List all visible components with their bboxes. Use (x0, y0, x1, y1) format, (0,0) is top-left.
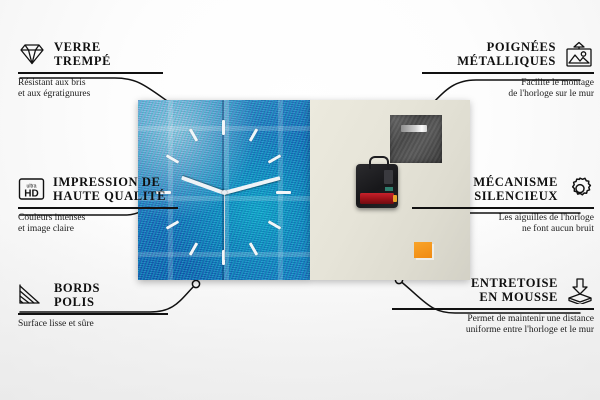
feature-desc: Résistant aux bris et aux égratignures (18, 78, 178, 101)
hour-marker (276, 191, 291, 194)
feature-rule (392, 308, 594, 310)
second-hand (224, 192, 225, 260)
feature-rule (422, 72, 594, 74)
feature-rule (18, 313, 168, 315)
hanger-slot (401, 125, 427, 132)
feature-mecanisme-silencieux: MÉCANISME SILENCIEUX Les aiguilles de l'… (412, 175, 594, 236)
feature-entretoise-en-mousse: ENTRETOISE EN MOUSSE Permet de maintenir… (392, 276, 594, 337)
feature-desc: Facilite le montage de l'horloge sur le … (422, 78, 594, 101)
quartz-movement (356, 164, 398, 208)
metal-hanger-bracket (390, 115, 442, 163)
picture-hanger-icon (564, 41, 594, 68)
feature-poignees-metalliques: POIGNÉES MÉTALLIQUES Facilite le montage… (422, 40, 594, 101)
feature-desc: Surface lisse et sûre (18, 319, 178, 331)
feature-title: BORDS POLIS (54, 281, 100, 309)
feature-verre-trempe: VERRE TREMPÉ Résistant aux bris et aux é… (18, 40, 178, 101)
diamond-icon (18, 42, 46, 66)
svg-text:HD: HD (24, 189, 38, 200)
feature-desc: Les aiguilles de l'horloge ne font aucun… (412, 213, 594, 236)
infographic-canvas: VERRE TREMPÉ Résistant aux bris et aux é… (0, 0, 600, 400)
ultra-hd-icon: ultra HD (18, 177, 45, 201)
movement-pin (384, 170, 393, 184)
minute-hand (223, 176, 280, 195)
feature-title: POIGNÉES MÉTALLIQUES (457, 40, 556, 68)
feature-bords-polis: BORDS POLIS Surface lisse et sûre (18, 281, 178, 330)
gear-icon (566, 176, 594, 202)
wire-endpoint-bords-polis (192, 280, 199, 287)
polished-edge-icon (18, 283, 46, 307)
feature-rule (412, 207, 594, 209)
feature-title: VERRE TREMPÉ (54, 40, 111, 68)
hanger-loop (369, 156, 389, 169)
feature-rule (18, 72, 163, 74)
battery (360, 193, 394, 204)
feature-desc: Permet de maintenir une distance uniform… (392, 314, 594, 337)
movement-chip (385, 187, 393, 191)
foam-spacer-icon (566, 277, 594, 304)
feature-rule (18, 207, 178, 209)
feature-title: ENTRETOISE EN MOUSSE (471, 276, 558, 304)
feature-title: IMPRESSION DE HAUTE QUALITÉ (53, 175, 166, 203)
feature-title: MÉCANISME SILENCIEUX (473, 175, 558, 203)
feature-impression-haute-qualite: ultra HD IMPRESSION DE HAUTE QUALITÉ Cou… (18, 175, 188, 236)
hands-cap (222, 190, 227, 195)
hour-marker (222, 120, 225, 135)
foam-spacer (414, 242, 432, 258)
feature-desc: Couleurs intenses et image claire (18, 213, 188, 236)
battery-tip (393, 195, 397, 202)
